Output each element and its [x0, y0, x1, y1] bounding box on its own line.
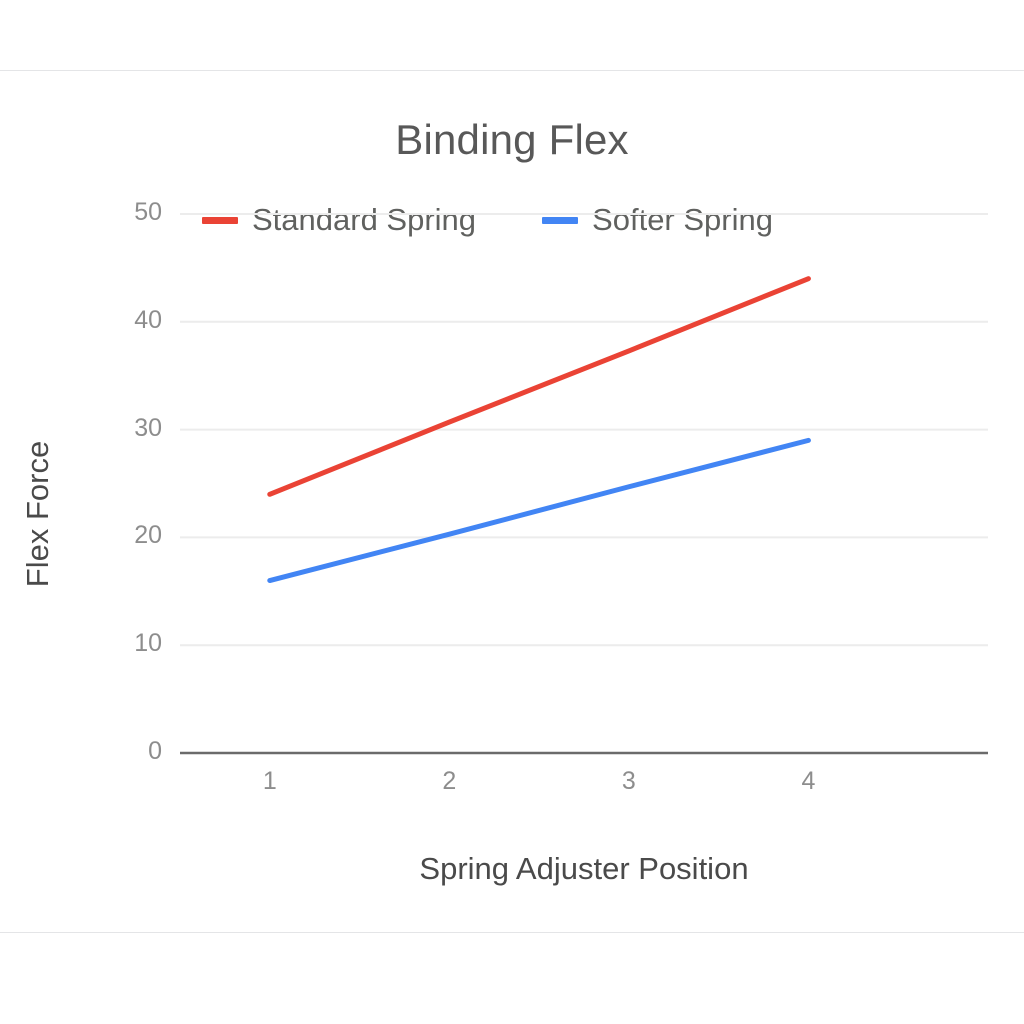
y-tick-label: 40 [102, 306, 162, 335]
card-bottom-divider [0, 932, 1024, 933]
y-tick-label: 50 [102, 198, 162, 227]
y-tick-label: 20 [102, 521, 162, 550]
y-axis-title: Flex Force [20, 414, 56, 614]
x-tick-label: 2 [419, 767, 479, 796]
y-tick-label: 30 [102, 414, 162, 443]
x-tick-label: 3 [599, 767, 659, 796]
y-tick-label: 10 [102, 629, 162, 658]
x-tick-label: 4 [778, 767, 838, 796]
chart-card[interactable]: Binding Flex Standard Spring Softer Spri… [0, 71, 1024, 932]
y-tick-label: 0 [102, 737, 162, 766]
gridlines [180, 214, 988, 645]
chart-page: Binding Flex Standard Spring Softer Spri… [0, 0, 1024, 1024]
x-axis-title: Spring Adjuster Position [180, 851, 988, 887]
plot-area[interactable]: 50403020100 1234 Flex Force Spring Adjus… [0, 71, 1024, 932]
x-tick-label: 1 [240, 767, 300, 796]
